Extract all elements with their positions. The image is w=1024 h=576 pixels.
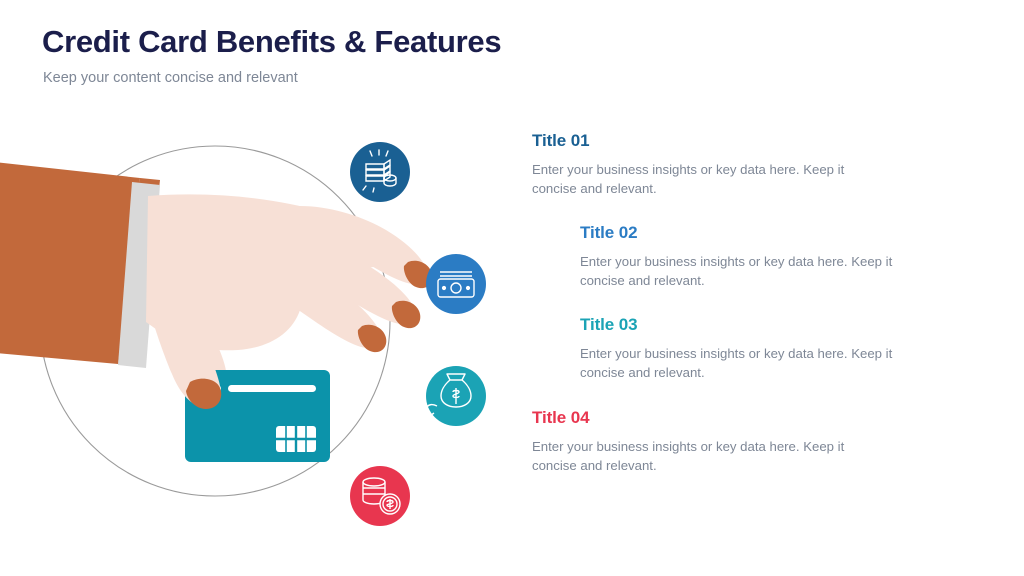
card-chip-icon xyxy=(276,426,316,452)
list-item: Title 01 Enter your business insights or… xyxy=(532,132,962,198)
list-item: Title 04 Enter your business insights or… xyxy=(532,409,962,475)
badge-money-bag[interactable] xyxy=(421,366,486,426)
badge-coin-stack[interactable] xyxy=(350,466,410,526)
item-body: Enter your business insights or key data… xyxy=(580,344,910,382)
slide-canvas: Credit Card Benefits & Features Keep you… xyxy=(0,0,1024,576)
list-item: Title 03 Enter your business insights or… xyxy=(532,316,962,382)
badge-cash-stack[interactable] xyxy=(350,142,410,202)
list-item: Title 02 Enter your business insights or… xyxy=(532,224,962,290)
badge-banknote[interactable] xyxy=(426,254,486,314)
item-body: Enter your business insights or key data… xyxy=(580,252,910,290)
slide-header: Credit Card Benefits & Features Keep you… xyxy=(42,24,501,87)
page-subtitle: Keep your content concise and relevant xyxy=(43,70,501,87)
item-body: Enter your business insights or key data… xyxy=(532,160,862,198)
item-body: Enter your business insights or key data… xyxy=(532,437,862,475)
hand-credit-card-illustration xyxy=(0,96,500,566)
item-title: Title 01 xyxy=(532,132,962,151)
item-title: Title 02 xyxy=(580,224,962,243)
item-title: Title 03 xyxy=(580,316,962,335)
feature-list: Title 01 Enter your business insights or… xyxy=(532,132,962,487)
page-title: Credit Card Benefits & Features xyxy=(42,24,501,60)
item-title: Title 04 xyxy=(532,409,962,428)
